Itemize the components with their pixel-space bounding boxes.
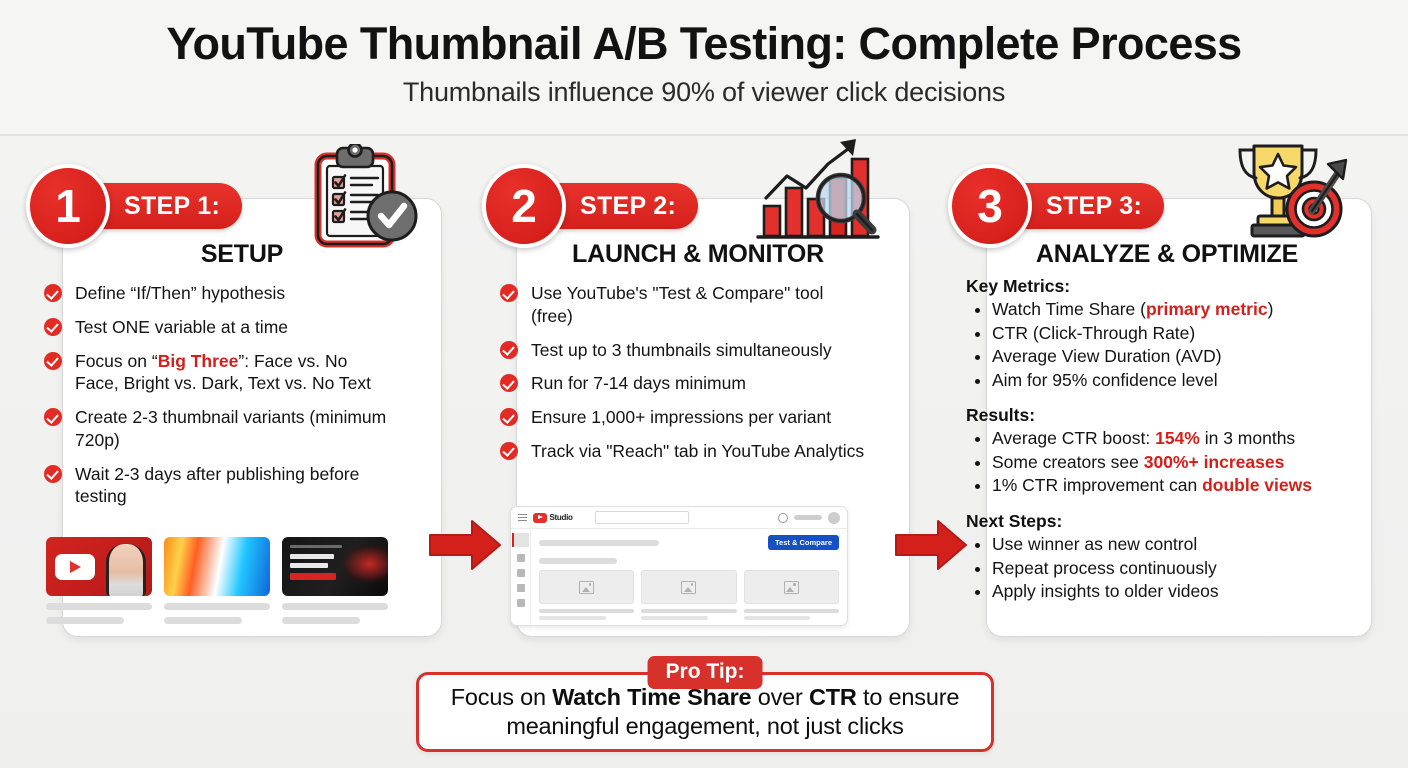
- thumbnail-tile[interactable]: [744, 570, 839, 620]
- image-placeholder-icon: [579, 581, 594, 594]
- placeholder-line: [46, 603, 152, 610]
- check-icon: [500, 284, 518, 302]
- bullet-list-key-metrics: Watch Time Share (primary metric) CTR (C…: [970, 298, 1322, 391]
- studio-topbar: Studio: [511, 507, 847, 529]
- pro-tip-text-post: to ensure: [857, 684, 960, 710]
- list-item-highlight: double views: [1202, 475, 1312, 495]
- list-item-text: Ensure 1,000+ impressions per variant: [531, 407, 831, 427]
- youtube-play-mark-icon: [533, 513, 547, 523]
- placeholder-line: [641, 616, 708, 620]
- list-item: Track via "Reach" tab in YouTube Analyti…: [500, 440, 866, 463]
- list-item: Test up to 3 thumbnails simultaneously: [500, 339, 866, 362]
- placeholder-line: [290, 563, 328, 568]
- section-heading-results: Results:: [966, 405, 1322, 426]
- sidebar-item-analytics[interactable]: [517, 569, 525, 577]
- check-icon: [500, 374, 518, 392]
- placeholder-line: [164, 617, 242, 624]
- list-item-text: Watch Time Share (: [992, 299, 1146, 319]
- sidebar-item-subtitles[interactable]: [517, 599, 525, 607]
- placeholder-line: [282, 603, 388, 610]
- thumbnail-image-c: [282, 537, 388, 596]
- thumbnail-tile[interactable]: [641, 570, 736, 620]
- placeholder-line: [290, 545, 342, 548]
- section-heading-next-steps: Next Steps:: [966, 511, 1322, 532]
- pro-tip-text-pre: Focus on: [451, 684, 552, 710]
- create-button-placeholder[interactable]: [794, 515, 822, 520]
- thumbnail-variant-b: [164, 537, 270, 624]
- page-subtitle: Thumbnails influence 90% of viewer click…: [0, 70, 1408, 108]
- list-item-text: Wait 2-3 days after publishing before te…: [75, 464, 359, 507]
- pro-tip-bold-2: CTR: [809, 684, 857, 710]
- creator-face-illustration: [106, 544, 146, 596]
- sidebar-item-comments[interactable]: [517, 584, 525, 592]
- pro-tip-text-mid: over: [751, 684, 809, 710]
- thumbnail-variants-preview: [46, 537, 392, 624]
- list-item-text: Apply insights to older videos: [992, 581, 1219, 601]
- pro-tip-label: Pro Tip:: [648, 656, 763, 689]
- checklist-launch: Use YouTube's "Test & Compare" tool (fre…: [500, 282, 866, 474]
- image-placeholder-icon: [784, 581, 799, 594]
- page-heading-placeholder: [539, 540, 659, 546]
- list-item-text: Run for 7-14 days minimum: [531, 373, 746, 393]
- step-number-1: 1: [26, 164, 110, 248]
- list-item-highlight: Big Three: [158, 351, 239, 371]
- clipboard-checklist-icon: [304, 144, 424, 254]
- list-item: Average View Duration (AVD): [992, 345, 1322, 368]
- studio-main-panel: Test & Compare: [531, 529, 847, 625]
- list-item: Some creators see 300%+ increases: [992, 451, 1322, 474]
- list-item: Run for 7-14 days minimum: [500, 372, 866, 395]
- thumbnail-tile-box: [641, 570, 736, 604]
- bar-chart-magnifier-icon: [754, 136, 884, 253]
- placeholder-line: [290, 554, 334, 559]
- hamburger-menu-icon[interactable]: [518, 514, 527, 521]
- avatar[interactable]: [828, 512, 840, 524]
- list-item-highlight: 154%: [1155, 428, 1200, 448]
- step-badge-1: 1 STEP 1:: [26, 168, 242, 244]
- thumbnail-tile-box: [539, 570, 634, 604]
- list-item: Create 2-3 thumbnail variants (minimum 7…: [44, 406, 394, 452]
- check-icon: [44, 352, 62, 370]
- thumbnail-tile[interactable]: [539, 570, 634, 620]
- step-badge-2: 2 STEP 2:: [482, 168, 698, 244]
- page-title: YouTube Thumbnail A/B Testing: Complete …: [0, 0, 1408, 70]
- step-column-1: 1 STEP 1:: [26, 136, 446, 646]
- list-item-highlight: 300%+ increases: [1144, 452, 1285, 472]
- header: YouTube Thumbnail A/B Testing: Complete …: [0, 0, 1408, 136]
- arrow-right-icon-2: [894, 518, 968, 572]
- list-item: Aim for 95% confidence level: [992, 369, 1322, 392]
- list-item: Repeat process continuously: [992, 557, 1322, 580]
- pro-tip-text: Focus on Watch Time Share over CTR to en…: [435, 683, 975, 740]
- thumbnail-variant-a: [46, 537, 152, 624]
- step-column-3: 3 STEP 3:: [948, 136, 1386, 646]
- studio-body: Test & Compare: [511, 529, 847, 625]
- trophy-target-icon: [1224, 134, 1352, 251]
- steps-container: 1 STEP 1:: [0, 136, 1408, 646]
- list-item-text: CTR (Click-Through Rate): [992, 323, 1195, 343]
- step-column-2: 2 STEP 2:: [482, 136, 914, 646]
- list-item: Apply insights to older videos: [992, 580, 1322, 603]
- infographic-page: YouTube Thumbnail A/B Testing: Complete …: [0, 0, 1408, 768]
- list-item: Ensure 1,000+ impressions per variant: [500, 406, 866, 429]
- list-item: CTR (Click-Through Rate): [992, 322, 1322, 345]
- step-number-2: 2: [482, 164, 566, 248]
- check-icon: [44, 408, 62, 426]
- placeholder-line: [744, 609, 839, 613]
- bullet-list-next-steps: Use winner as new control Repeat process…: [970, 533, 1322, 603]
- check-icon: [44, 284, 62, 302]
- pro-tip-line-2: meaningful engagement, not just clicks: [506, 713, 903, 739]
- check-icon: [44, 465, 62, 483]
- list-item: Focus on “Big Three”: Face vs. No Face, …: [44, 350, 394, 396]
- placeholder-line: [164, 603, 270, 610]
- youtube-studio-mock: Studio: [510, 506, 848, 626]
- list-item: Use YouTube's "Test & Compare" tool (fre…: [500, 282, 866, 328]
- placeholder-line: [744, 616, 811, 620]
- studio-brand-label: Studio: [550, 513, 573, 522]
- list-item: Watch Time Share (primary metric): [992, 298, 1322, 321]
- check-icon: [44, 318, 62, 336]
- studio-header-row: Test & Compare: [539, 535, 839, 550]
- list-item-text: Use YouTube's "Test & Compare" tool (fre…: [531, 283, 823, 326]
- analysis-sections: Key Metrics: Watch Time Share (primary m…: [966, 276, 1322, 604]
- step-ribbon-3: STEP 3:: [1018, 183, 1164, 229]
- placeholder-line: [46, 617, 124, 624]
- placeholder-line: [290, 573, 336, 580]
- sidebar-item-dashboard[interactable]: [512, 533, 529, 547]
- test-and-compare-button[interactable]: Test & Compare: [768, 535, 839, 550]
- image-placeholder-icon: [681, 581, 696, 594]
- check-icon: [500, 408, 518, 426]
- placeholder-line: [282, 617, 360, 624]
- studio-search-input[interactable]: [595, 511, 689, 524]
- studio-sidebar: [511, 529, 531, 625]
- subheading-placeholder: [539, 558, 617, 564]
- placeholder-line: [539, 609, 634, 613]
- list-item: Use winner as new control: [992, 533, 1322, 556]
- list-item-text: Focus on “: [75, 351, 158, 371]
- list-item: Wait 2-3 days after publishing before te…: [44, 463, 394, 509]
- step-ribbon-2: STEP 2:: [552, 183, 698, 229]
- step-number-3: 3: [948, 164, 1032, 248]
- list-item: 1% CTR improvement can double views: [992, 474, 1322, 497]
- section-heading-key-metrics: Key Metrics:: [966, 276, 1322, 297]
- thumbnail-tile-box: [744, 570, 839, 604]
- help-icon[interactable]: [778, 513, 788, 523]
- step-ribbon-1: STEP 1:: [96, 183, 242, 229]
- checklist-setup: Define “If/Then” hypothesis Test ONE var…: [44, 282, 394, 519]
- list-item-text: Test up to 3 thumbnails simultaneously: [531, 340, 832, 360]
- list-item-text: Repeat process continuously: [992, 558, 1217, 578]
- list-item-text: Average CTR boost:: [992, 428, 1155, 448]
- placeholder-line: [641, 609, 736, 613]
- list-item-text: 1% CTR improvement can: [992, 475, 1202, 495]
- list-item-text-post: in 3 months: [1200, 428, 1295, 448]
- list-item-text-post: ): [1268, 299, 1274, 319]
- placeholder-line: [539, 616, 606, 620]
- arrow-right-icon-1: [428, 518, 502, 572]
- list-item: Average CTR boost: 154% in 3 months: [992, 427, 1322, 450]
- youtube-logo: Studio: [533, 513, 573, 523]
- studio-subheading-row: [539, 558, 839, 564]
- list-item-text: Average View Duration (AVD): [992, 346, 1222, 366]
- list-item: Define “If/Then” hypothesis: [44, 282, 394, 305]
- list-item-text: Aim for 95% confidence level: [992, 370, 1218, 390]
- check-icon: [500, 341, 518, 359]
- play-button-icon: [55, 554, 95, 580]
- list-item-text: Create 2-3 thumbnail variants (minimum 7…: [75, 407, 386, 450]
- thumbnail-image-b: [164, 537, 270, 596]
- list-item-text: Track via "Reach" tab in YouTube Analyti…: [531, 441, 864, 461]
- bullet-list-results: Average CTR boost: 154% in 3 months Some…: [970, 427, 1322, 497]
- list-item: Test ONE variable at a time: [44, 316, 394, 339]
- sidebar-item-content[interactable]: [517, 554, 525, 562]
- thumbnail-tiles: [539, 570, 839, 620]
- thumbnail-image-a: [46, 537, 152, 596]
- thumbnail-variant-c: [282, 537, 388, 624]
- list-item-text: Define “If/Then” hypothesis: [75, 283, 285, 303]
- step-badge-3: 3 STEP 3:: [948, 168, 1164, 244]
- list-item-text: Test ONE variable at a time: [75, 317, 288, 337]
- list-item-text: Use winner as new control: [992, 534, 1197, 554]
- list-item-text: Some creators see: [992, 452, 1144, 472]
- check-icon: [500, 442, 518, 460]
- list-item-highlight: primary metric: [1146, 299, 1268, 319]
- glow-effect: [342, 545, 388, 583]
